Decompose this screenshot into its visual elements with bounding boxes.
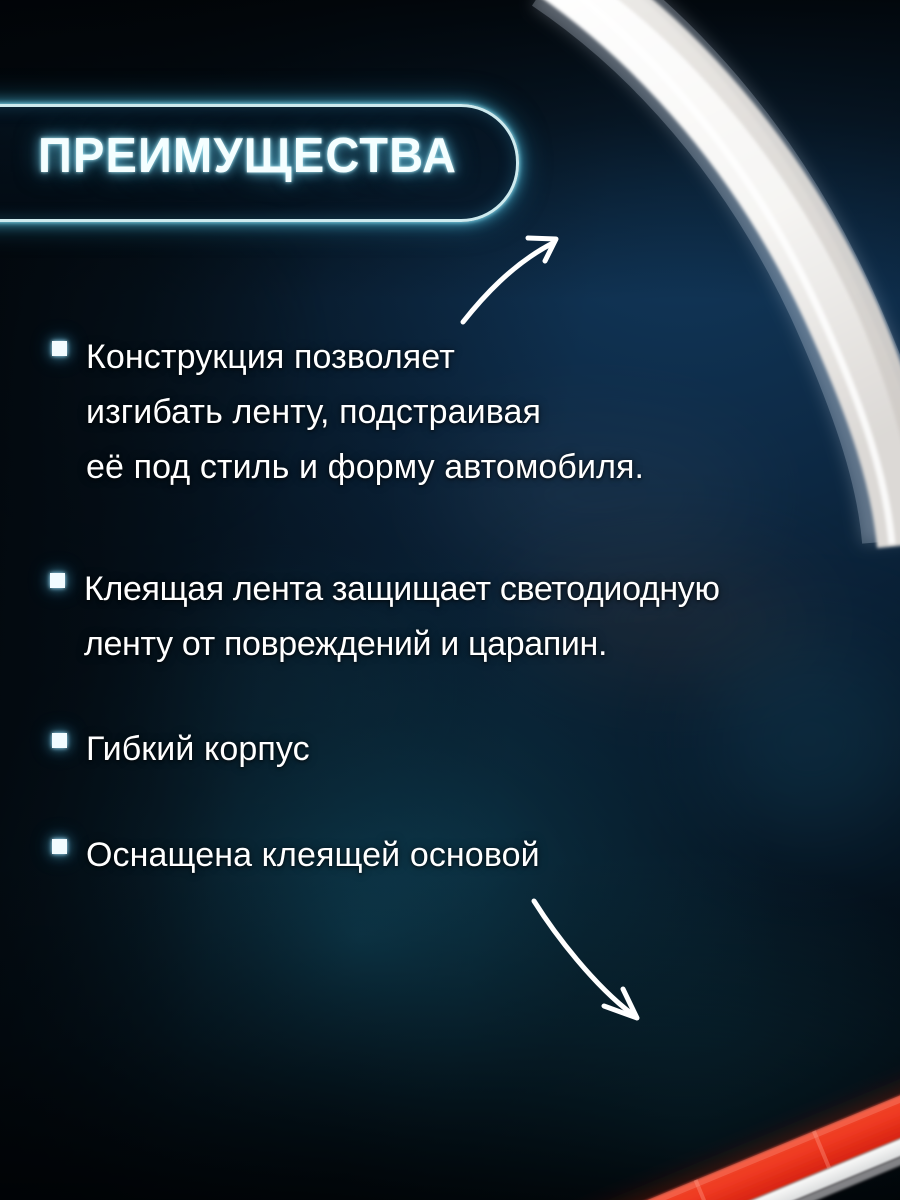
benefit-text: Конструкция позволяет изгибать ленту, по… xyxy=(86,330,644,495)
square-bullet-icon xyxy=(52,341,67,356)
benefit-text: Оснащена клеящей основой xyxy=(86,828,540,883)
list-item: Гибкий корпус xyxy=(52,722,310,777)
benefit-text: Клеящая лента защищает светодиодную лент… xyxy=(84,562,720,672)
benefit-text: Гибкий корпус xyxy=(86,722,310,777)
poster-canvas: ПРЕИМУЩЕСТВА Конструкция позволяет изгиб… xyxy=(0,0,900,1200)
page-title: ПРЕИМУЩЕСТВА xyxy=(38,128,457,184)
square-bullet-icon xyxy=(50,573,65,588)
square-bullet-icon xyxy=(52,839,67,854)
list-item: Оснащена клеящей основой xyxy=(52,828,540,883)
background-bottom-vignette xyxy=(0,860,900,1200)
list-item: Клеящая лента защищает светодиодную лент… xyxy=(50,562,720,672)
square-bullet-icon xyxy=(52,733,67,748)
list-item: Конструкция позволяет изгибать ленту, по… xyxy=(52,330,644,495)
